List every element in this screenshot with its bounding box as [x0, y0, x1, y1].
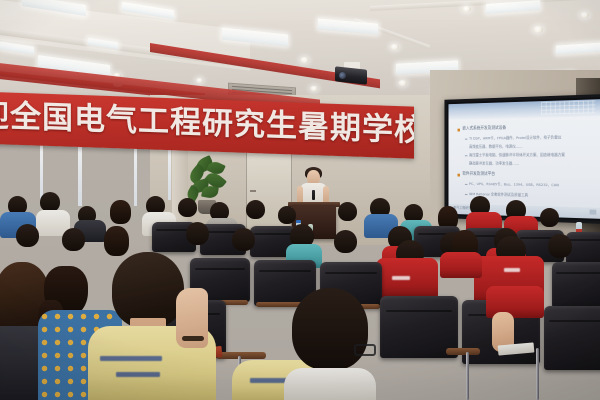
projector-lens-icon	[339, 72, 346, 79]
welcome-banner-text: 迎全国电气工程研究生暑期学校学员莅临交大光芒	[0, 95, 414, 150]
water-bottle-cap-icon	[296, 220, 301, 223]
seat-leg	[466, 352, 469, 400]
ceiling-downlight	[300, 57, 309, 63]
audience-head	[548, 234, 572, 258]
yellow-polo-back-print	[100, 356, 162, 361]
ceiling-downlight	[196, 78, 203, 83]
attendee-red-polo	[440, 252, 482, 278]
microphone-icon	[312, 190, 315, 200]
slide-bullet: 嵌入式系统开发及测试设备	[457, 126, 506, 133]
audience-head	[540, 208, 559, 227]
audience-head	[62, 228, 85, 251]
lecture-hall-photo: 迎全国电气工程研究生暑期学校学员莅临交大光芒 嵌入式系统开发及测试设备 TI D…	[0, 0, 600, 400]
seat-armrest	[446, 348, 480, 355]
slide-bullet: 软件开发及测试平台	[457, 172, 495, 178]
ceiling-downlight	[390, 44, 399, 50]
bullet-square-icon	[457, 129, 459, 132]
glasses-icon	[354, 344, 376, 356]
slide-page-indicator	[590, 210, 597, 215]
audience-head	[232, 228, 255, 251]
bullet-square-icon	[457, 174, 459, 177]
auditorium-seat[interactable]	[552, 262, 600, 308]
ceiling-downlight	[398, 80, 407, 86]
seat-armrest	[216, 352, 266, 359]
ceiling-downlight	[310, 86, 318, 91]
audience-head	[246, 200, 265, 219]
audience-torso	[284, 368, 376, 400]
ceiling-downlight	[580, 12, 589, 18]
ceiling-downlight	[462, 6, 471, 12]
audience-head	[292, 288, 368, 370]
wrist-band	[182, 336, 204, 341]
seat-leg	[536, 348, 539, 400]
audience-head	[338, 202, 357, 221]
audience-head	[16, 224, 39, 247]
audience-head	[110, 200, 131, 224]
door-handle-icon[interactable]	[250, 190, 256, 192]
slide-header-grid-decor	[541, 100, 595, 114]
audience-head	[104, 226, 129, 256]
audience-head	[334, 230, 357, 253]
yellow-polo-back-print	[116, 372, 160, 377]
audience-head	[178, 198, 197, 217]
attendee-yellow-polo-head	[112, 252, 184, 328]
slide-header-band	[448, 99, 600, 120]
audience-head	[40, 192, 60, 212]
ceiling-downlight	[533, 26, 543, 33]
red-polo-logo	[392, 276, 410, 280]
auditorium-seat[interactable]	[544, 306, 600, 370]
red-polo-logo	[504, 268, 520, 272]
audience-head	[186, 222, 209, 245]
audience-head	[278, 206, 296, 224]
